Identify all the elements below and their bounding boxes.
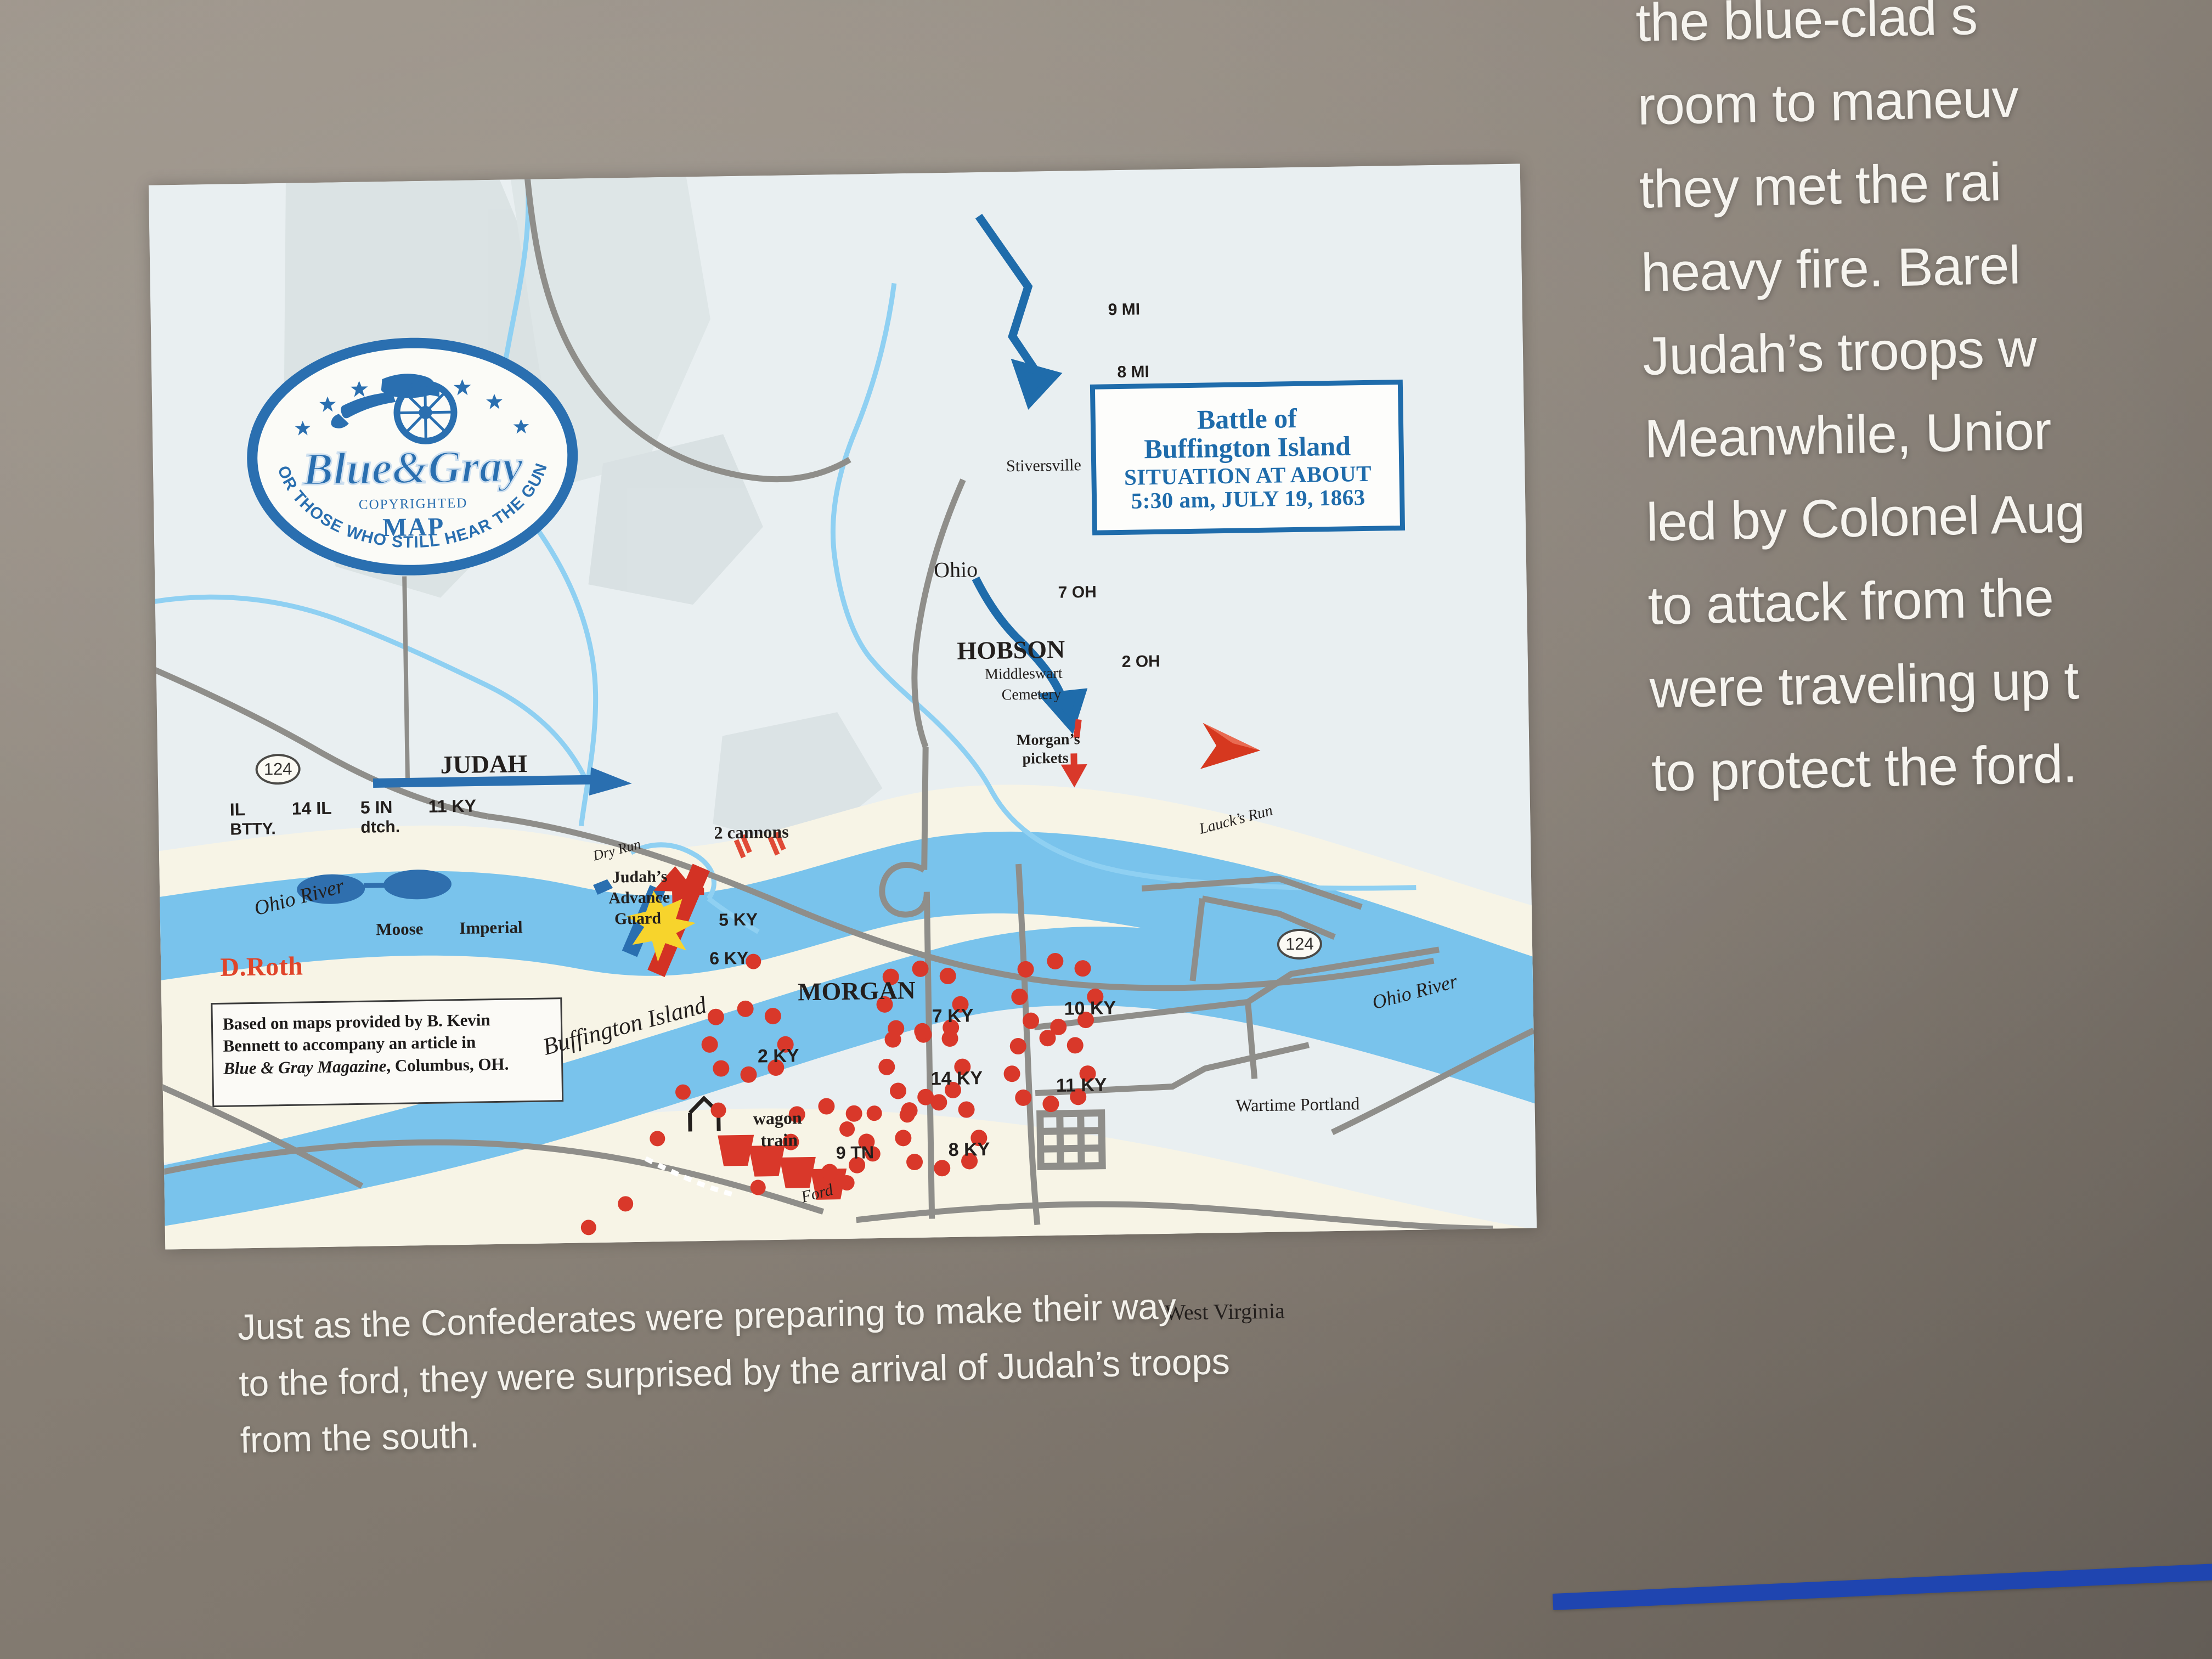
road-cemetery-north (922, 747, 928, 870)
map-place-label-middleswart: Middleswart (985, 665, 1063, 684)
credit-magazine: Blue & Gray Magazine (223, 1056, 387, 1078)
confederate-unit-9-tn: 9 TN (836, 1142, 874, 1163)
confederate-unit-6-ky: 6 KY (709, 948, 749, 969)
confederate-unit-8-ky: 8 KY (948, 1139, 990, 1161)
map-place-label-stiversville: Stiversville (1006, 456, 1081, 476)
map-place-label-cemetery: Cemetery (1001, 686, 1061, 704)
map-annotation-0: Morgan’s (1017, 731, 1080, 749)
map-annotation-8: Moose (376, 919, 424, 939)
union-unit-sub-il: BTTY. (230, 820, 276, 839)
sign-body-line-3: they met the rai (1638, 134, 2212, 232)
map-title-line4: 5:30 am, JULY 19, 1863 (1131, 485, 1365, 512)
map-annotation-1: pickets (1022, 750, 1068, 768)
sign-body-text: the blue-clad sroom to maneuvthey met th… (1635, 0, 2212, 815)
union-unit-14-il: 14 IL (292, 798, 332, 819)
map-annotation-5: Guard (614, 909, 662, 928)
map-place-label-ohio: Ohio (934, 556, 978, 583)
credit-line-3: Blue & Gray Magazine, Columbus, OH. (223, 1052, 553, 1080)
sign-body-line-7: led by Colonel Aug (1645, 467, 2212, 565)
sign-body-line-4: heavy fire. Barel (1640, 217, 2212, 314)
confederate-unit-11-ky: 11 KY (1056, 1075, 1107, 1097)
map-annotation-3: Judah’s (612, 867, 668, 887)
map-annotation-6: wagon (753, 1108, 802, 1128)
sign-body-line-9: were traveling up t (1649, 634, 2212, 731)
sign-body-line-2: room to maneuv (1637, 50, 2212, 148)
map-title-cartouche: Battle of Buffington Island SITUATION AT… (1090, 380, 1405, 535)
union-unit-il: IL (230, 799, 246, 820)
map-commander-judah: JUDAH (440, 749, 527, 779)
sign-body-line-5: Judah’s troops w (1642, 300, 2212, 398)
screenshot-root: Battle of Buffington Island SITUATION AT… (0, 0, 2212, 1659)
sign-body-line-8: to attack from the (1647, 550, 2212, 648)
confederate-unit-5-ky: 5 KY (719, 909, 758, 930)
map-annotation-2: 2 cannons (714, 822, 789, 843)
map-annotation-7: train (760, 1130, 798, 1150)
sign-body-line-6: Meanwhile, Unior (1644, 383, 2212, 481)
confederate-unit-7-ky: 7 KY (932, 1005, 974, 1027)
map-place-label-wartime-portland: Wartime Portland (1235, 1093, 1359, 1116)
artist-signature: D.Roth (220, 951, 303, 983)
map-arrow-label-2-oh: 2 OH (1122, 652, 1161, 672)
map-title-line2: Buffington Island (1144, 431, 1351, 463)
sign-body-line-10: to protect the ford. (1651, 717, 2212, 815)
map-annotation-4: Advance (608, 888, 670, 908)
battle-map-card: Battle of Buffington Island SITUATION AT… (149, 163, 1537, 1249)
map-credit-box: Based on maps provided by B. Kevin Benne… (211, 997, 563, 1107)
credit-city: , Columbus, OH. (386, 1054, 509, 1075)
union-unit-11-ky: 11 KY (428, 796, 476, 817)
logo-brand-text: Blue&Gray (302, 441, 523, 495)
confederate-unit-2-ky: 2 KY (758, 1045, 799, 1067)
map-title-line1: Battle of (1197, 404, 1297, 434)
confederate-unit-10-ky: 10 KY (1064, 997, 1116, 1019)
blue-and-gray-logo: Blue&Gray COPYRIGHTED MAP “FOR THOSE WHO… (243, 333, 582, 580)
union-unit-sub-5-in: dtch. (360, 818, 400, 837)
map-arrow-label-9-mi: 9 MI (1108, 300, 1140, 319)
map-commander-morgan: MORGAN (798, 975, 916, 1006)
confederate-unit-14-ky: 14 KY (930, 1068, 983, 1090)
map-commander-hobson: HOBSON (957, 635, 1065, 665)
logo-copyright-text: COPYRIGHTED (359, 496, 468, 512)
map-arrow-label-8-mi: 8 MI (1117, 363, 1149, 382)
map-caption: Just as the Confederates were preparing … (237, 1273, 1392, 1468)
union-unit-5-in: 5 IN (360, 797, 392, 818)
map-annotation-9: Imperial (459, 917, 523, 938)
map-arrow-label-7-oh: 7 OH (1058, 583, 1097, 602)
